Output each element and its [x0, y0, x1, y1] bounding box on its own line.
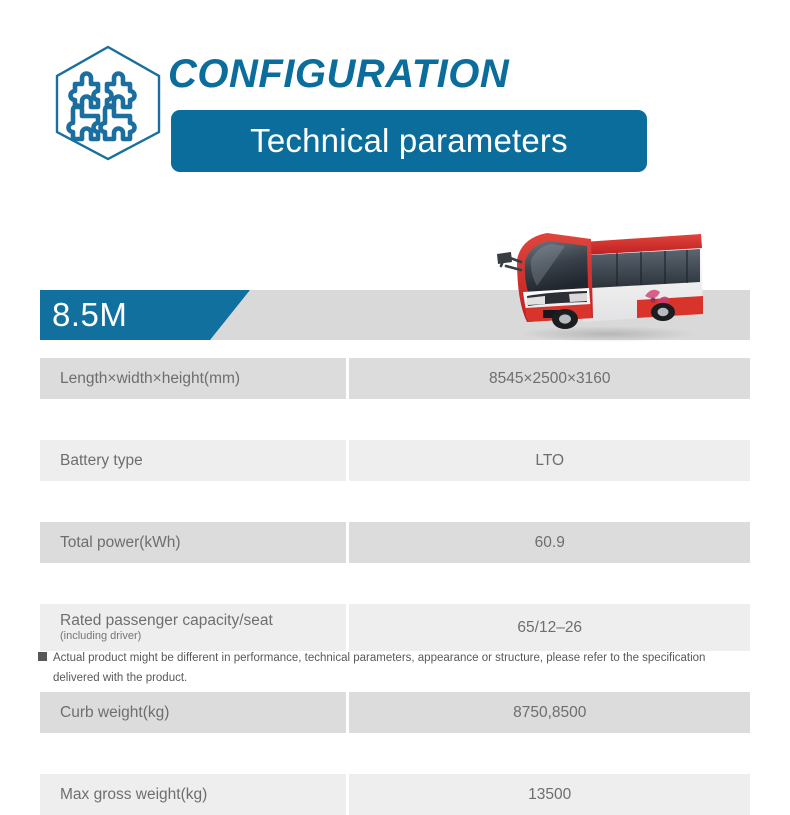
footnote-bullet-icon [38, 652, 47, 661]
table-cell-value: 60.9 [349, 522, 750, 563]
spec-label: Length×width×height(mm) [60, 370, 346, 388]
page-title: CONFIGURATION [168, 52, 509, 97]
row-separator [40, 733, 750, 774]
table-row: Total power(kWh) 60.9 [40, 522, 750, 563]
table-cell-value: 65/12–26 [349, 604, 750, 651]
table-cell-value: LTO [349, 440, 750, 481]
row-separator [40, 563, 750, 604]
table-cell-label: Total power(kWh) [40, 522, 349, 563]
puzzle-hexagon-icon [52, 44, 164, 162]
spec-sublabel: (including driver) [60, 630, 346, 643]
table-cell-label: Curb weight(kg) [40, 692, 349, 733]
spec-label: Max gross weight(kg) [60, 786, 346, 804]
row-separator [40, 481, 750, 522]
table-row: Length×width×height(mm) 8545×2500×3160 [40, 358, 750, 399]
page-header: CONFIGURATION Technical parameters [0, 0, 790, 210]
row-separator [40, 399, 750, 440]
table-row: Rated passenger capacity/seat (including… [40, 604, 750, 651]
table-cell-value: 8750,8500 [349, 692, 750, 733]
technical-parameters-table: Length×width×height(mm) 8545×2500×3160 B… [40, 358, 750, 815]
table-cell-label: Max gross weight(kg) [40, 774, 349, 815]
spec-label: Rated passenger capacity/seat [60, 612, 346, 630]
footnote: Actual product might be different in per… [38, 648, 754, 688]
table-cell-label: Length×width×height(mm) [40, 358, 349, 399]
footnote-text: Actual product might be different in per… [53, 648, 754, 688]
table-row: Battery type LTO [40, 440, 750, 481]
table-cell-label: Battery type [40, 440, 349, 481]
table-row: Max gross weight(kg) 13500 [40, 774, 750, 815]
spec-label: Total power(kWh) [60, 534, 346, 552]
table-cell-value: 13500 [349, 774, 750, 815]
table-cell-value: 8545×2500×3160 [349, 358, 750, 399]
technical-parameters-badge[interactable]: Technical parameters [171, 110, 647, 172]
bus-product-image [487, 222, 715, 342]
technical-parameters-label: Technical parameters [250, 122, 568, 160]
model-name-label: 8.5M [52, 290, 127, 340]
table-row: Curb weight(kg) 8750,8500 [40, 692, 750, 733]
table-cell-label: Rated passenger capacity/seat (including… [40, 604, 349, 651]
spec-label: Curb weight(kg) [60, 704, 346, 722]
spec-label: Battery type [60, 452, 346, 470]
